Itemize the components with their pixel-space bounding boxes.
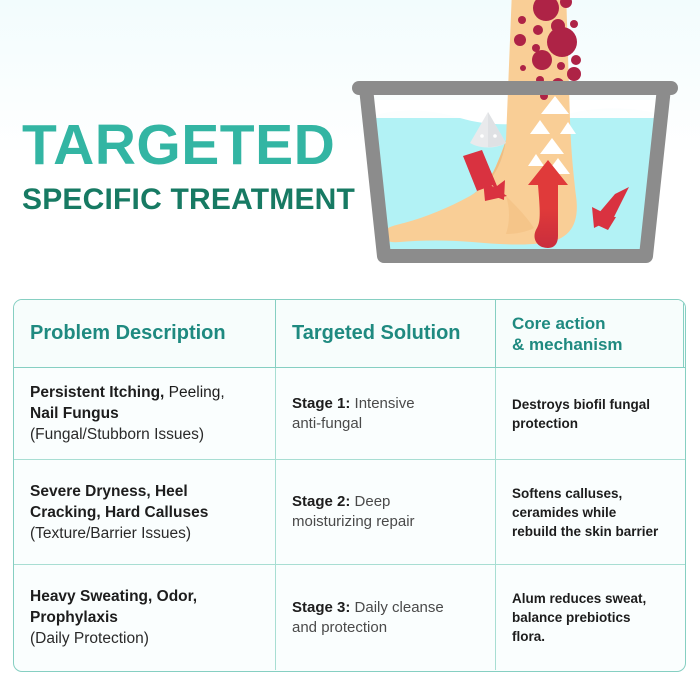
solution-line-1: Stage 3: Daily cleanse <box>292 598 479 618</box>
solution-stage-label: Stage 2: <box>292 493 350 510</box>
table-header-core-line2: & mechanism <box>512 334 667 355</box>
table-header-row: Problem Description Targeted Solution Co… <box>14 300 685 368</box>
core-line-3: rebuild the skin barrier <box>512 522 668 541</box>
core-line-2: ceramides while <box>512 503 668 522</box>
cell-core-action: Softens calluses, ceramides while rebuil… <box>496 460 684 564</box>
headline-block: TARGETED SPECIFIC TREATMENT <box>22 116 352 216</box>
cell-problem: Heavy Sweating, Odor, Prophylaxis (Daily… <box>14 565 276 670</box>
cell-solution: Stage 2: Deep moisturizing repair <box>276 460 496 564</box>
core-line-1: Softens calluses, <box>512 484 668 503</box>
table-row: Persistent Itching, Peeling, Nail Fungus… <box>14 368 685 460</box>
table-header-problem: Problem Description <box>14 300 276 367</box>
solution-line-2: moisturizing repair <box>292 512 479 532</box>
cell-problem: Severe Dryness, Heel Cracking, Hard Call… <box>14 460 276 564</box>
foot-soak-basin-illustration <box>330 0 700 285</box>
table-header-core: Core action & mechanism <box>496 300 684 367</box>
problem-line-1: Heavy Sweating, Odor, <box>30 586 259 607</box>
problem-line-3: (Daily Protection) <box>30 628 259 649</box>
solution-line-1: Stage 2: Deep <box>292 492 479 512</box>
cell-solution: Stage 1: Intensive anti-fungal <box>276 368 496 459</box>
solution-line-2: anti-fungal <box>292 414 479 434</box>
cell-core-action: Alum reduces sweat, balance prebiotics f… <box>496 565 684 670</box>
headline-sub: SPECIFIC TREATMENT <box>22 184 352 216</box>
problem-line-3: (Fungal/Stubborn Issues) <box>30 424 259 445</box>
solution-line-1-rest: Daily cleanse <box>350 599 443 616</box>
cell-problem: Persistent Itching, Peeling, Nail Fungus… <box>14 368 276 459</box>
headline-main: TARGETED <box>22 116 352 174</box>
table-header-problem-label: Problem Description <box>30 322 259 345</box>
cell-solution: Stage 3: Daily cleanse and protection <box>276 565 496 670</box>
core-line-2: balance prebiotics <box>512 608 668 627</box>
problem-line-1: Severe Dryness, Heel <box>30 481 259 502</box>
treatment-table: Problem Description Targeted Solution Co… <box>13 299 686 672</box>
problem-line-1-strong: Persistent Itching, <box>30 384 164 401</box>
problem-line-2: Nail Fungus <box>30 403 259 424</box>
solution-stage-label: Stage 1: <box>292 395 350 412</box>
table-header-solution-label: Targeted Solution <box>292 322 479 345</box>
solution-line-1-rest: Deep <box>350 493 390 510</box>
solution-stage-label: Stage 3: <box>292 599 350 616</box>
solution-line-1: Stage 1: Intensive <box>292 394 479 414</box>
core-line-2: protection <box>512 414 668 433</box>
problem-line-2: Cracking, Hard Calluses <box>30 502 259 523</box>
table-row: Severe Dryness, Heel Cracking, Hard Call… <box>14 460 685 565</box>
table-row: Heavy Sweating, Odor, Prophylaxis (Daily… <box>14 565 685 670</box>
table-header-solution: Targeted Solution <box>276 300 496 367</box>
problem-line-1-rest: Peeling, <box>164 384 224 401</box>
problem-line-2: Prophylaxis <box>30 607 259 628</box>
solution-line-1-rest: Intensive <box>350 395 414 412</box>
poster-root: TARGETED SPECIFIC TREATMENT Problem Desc… <box>0 0 700 700</box>
table-header-core-line1: Core action <box>512 313 667 334</box>
problem-line-3: (Texture/Barrier Issues) <box>30 523 259 544</box>
cell-core-action: Destroys biofil fungal protection <box>496 368 684 459</box>
solution-line-2: and protection <box>292 618 479 638</box>
core-line-3: flora. <box>512 627 668 646</box>
core-line-1: Alum reduces sweat, <box>512 589 668 608</box>
core-line-1: Destroys biofil fungal <box>512 395 668 414</box>
problem-line-1: Persistent Itching, Peeling, <box>30 382 259 403</box>
